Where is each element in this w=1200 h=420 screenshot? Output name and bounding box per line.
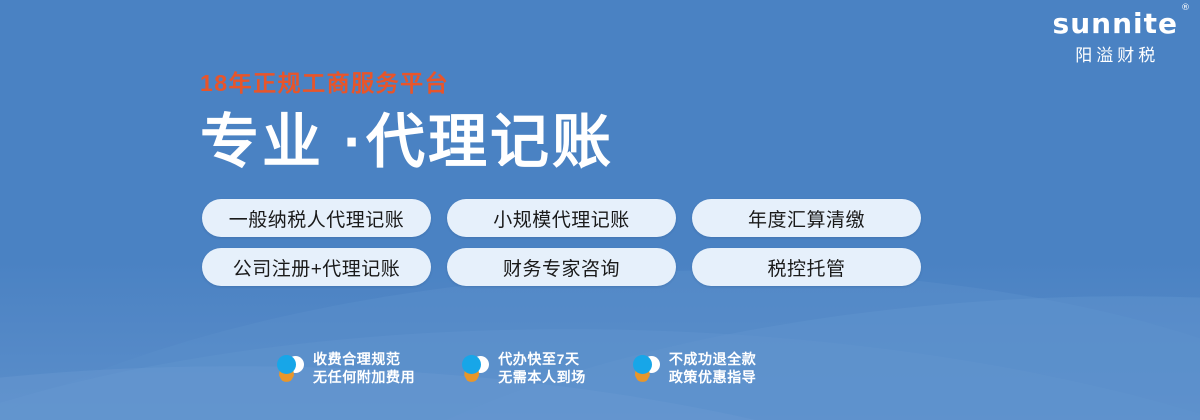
service-pill-tax-control-hosting[interactable]: 税控托管 — [692, 248, 921, 286]
hero-eyebrow: 18年正规工商服务平台 — [200, 72, 614, 95]
feature-item-speed: 代办快至7天 无需本人到场 — [461, 351, 586, 387]
moon-drop-icon — [632, 354, 660, 384]
feature-item-guarantee: 不成功退全款 政策优惠指导 — [632, 351, 757, 387]
feature-line-1: 代办快至7天 — [498, 351, 586, 369]
page-title: 专业 ·代理记账 — [200, 113, 614, 172]
service-pill-grid: 一般纳税人代理记账 小规模代理记账 年度汇算清缴 公司注册+代理记账 财务专家咨… — [202, 199, 921, 286]
feature-line-1: 不成功退全款 — [669, 351, 757, 369]
logo-wordmark: sunnite ® — [1053, 10, 1178, 38]
moon-drop-icon — [461, 354, 489, 384]
feature-text-pricing: 收费合理规范 无任何附加费用 — [313, 351, 415, 387]
service-pill-annual-settlement[interactable]: 年度汇算清缴 — [692, 199, 921, 237]
service-pill-small-scale[interactable]: 小规模代理记账 — [447, 199, 676, 237]
circle-shape — [633, 355, 652, 374]
service-pill-general-taxpayer[interactable]: 一般纳税人代理记账 — [202, 199, 431, 237]
circle-shape — [277, 355, 296, 374]
logo-wordmark-text: sunnite — [1053, 7, 1178, 40]
advertisement-banner: sunnite ® 阳溢财税 18年正规工商服务平台 专业 ·代理记账 一般纳税… — [0, 0, 1200, 420]
feature-line-1: 收费合理规范 — [313, 351, 415, 369]
feature-text-speed: 代办快至7天 无需本人到场 — [498, 351, 586, 387]
feature-item-pricing: 收费合理规范 无任何附加费用 — [276, 351, 415, 387]
service-pill-finance-consulting[interactable]: 财务专家咨询 — [447, 248, 676, 286]
moon-drop-icon — [276, 354, 304, 384]
circle-shape — [462, 355, 481, 374]
feature-line-2: 无需本人到场 — [498, 369, 586, 387]
hero-headline: 18年正规工商服务平台 专业 ·代理记账 — [200, 72, 614, 172]
feature-line-2: 政策优惠指导 — [669, 369, 757, 387]
feature-line-2: 无任何附加费用 — [313, 369, 415, 387]
feature-bar: 收费合理规范 无任何附加费用 代办快至7天 无需本人到场 不成功退全款 — [276, 351, 756, 387]
logo-chinese-name: 阳溢财税 — [1053, 47, 1178, 64]
registered-trademark-icon: ® — [1181, 4, 1191, 13]
service-pill-company-registration[interactable]: 公司注册+代理记账 — [202, 248, 431, 286]
feature-text-guarantee: 不成功退全款 政策优惠指导 — [669, 351, 757, 387]
brand-logo[interactable]: sunnite ® 阳溢财税 — [1053, 10, 1178, 64]
